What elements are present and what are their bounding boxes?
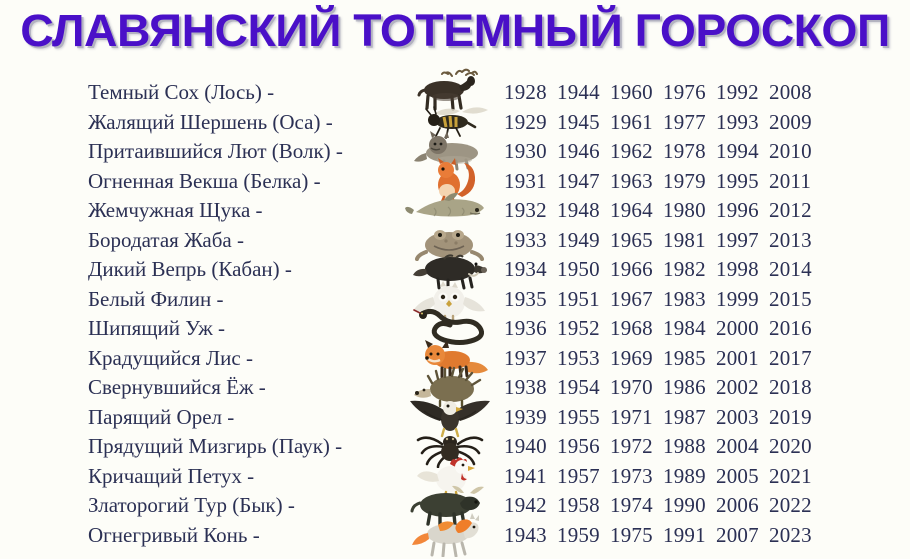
year-value: 1986: [663, 373, 716, 403]
year-value: 1938: [504, 373, 557, 403]
year-value: 1973: [610, 462, 663, 492]
totem-name-label: Златорогий Тур (Бык) -: [88, 491, 295, 521]
year-value: 1959: [557, 521, 610, 551]
year-value: 1999: [716, 285, 769, 315]
year-value: 2023: [769, 521, 822, 551]
year-value: 1968: [610, 314, 663, 344]
year-value: 1971: [610, 403, 663, 433]
totem-name-label: Прядущий Мизгирь (Паук) -: [88, 432, 342, 462]
year-list: 193619521968198420002016: [504, 314, 822, 344]
year-value: 1951: [557, 285, 610, 315]
year-value: 2009: [769, 108, 822, 138]
year-value: 1956: [557, 432, 610, 462]
year-value: 1957: [557, 462, 610, 492]
year-value: 1930: [504, 137, 557, 167]
year-value: 2012: [769, 196, 822, 226]
totem-name-label: Притаившийся Лют (Волк) -: [88, 137, 343, 167]
year-value: 2022: [769, 491, 822, 521]
year-value: 1970: [610, 373, 663, 403]
year-value: 2019: [769, 403, 822, 433]
year-value: 1949: [557, 226, 610, 256]
totem-name-label: Жемчужная Щука -: [88, 196, 263, 226]
year-value: 1962: [610, 137, 663, 167]
year-value: 1935: [504, 285, 557, 315]
year-value: 1977: [663, 108, 716, 138]
year-value: 1929: [504, 108, 557, 138]
year-value: 1984: [663, 314, 716, 344]
year-list: 193319491965198119972013: [504, 226, 822, 256]
totem-name-label: Парящий Орел -: [88, 403, 234, 433]
year-value: 1980: [663, 196, 716, 226]
year-value: 2016: [769, 314, 822, 344]
year-value: 2001: [716, 344, 769, 374]
year-value: 2006: [716, 491, 769, 521]
year-value: 1946: [557, 137, 610, 167]
year-value: 1937: [504, 344, 557, 374]
year-value: 1936: [504, 314, 557, 344]
horoscope-poster: СЛАВЯНСКИЙ ТОТЕМНЫЙ ГОРОСКОП Темный Сох …: [0, 0, 910, 559]
year-value: 1943: [504, 521, 557, 551]
year-value: 1963: [610, 167, 663, 197]
year-value: 1996: [716, 196, 769, 226]
year-value: 1928: [504, 78, 557, 108]
year-value: 2020: [769, 432, 822, 462]
year-value: 2000: [716, 314, 769, 344]
year-value: 1997: [716, 226, 769, 256]
year-value: 2005: [716, 462, 769, 492]
year-value: 1941: [504, 462, 557, 492]
year-value: 1955: [557, 403, 610, 433]
year-value: 2017: [769, 344, 822, 374]
year-value: 1939: [504, 403, 557, 433]
year-value: 1960: [610, 78, 663, 108]
year-value: 1948: [557, 196, 610, 226]
year-list: 193519511967198319992015: [504, 285, 822, 315]
year-value: 1932: [504, 196, 557, 226]
year-value: 1991: [663, 521, 716, 551]
year-value: 2007: [716, 521, 769, 551]
year-list: 193219481964198019962012: [504, 196, 822, 226]
year-value: 1975: [610, 521, 663, 551]
year-value: 1974: [610, 491, 663, 521]
year-value: 1992: [716, 78, 769, 108]
year-value: 1931: [504, 167, 557, 197]
year-value: 1987: [663, 403, 716, 433]
totem-name-label: Дикий Вепрь (Кабан) -: [88, 255, 292, 285]
year-value: 1993: [716, 108, 769, 138]
year-value: 1940: [504, 432, 557, 462]
year-value: 1954: [557, 373, 610, 403]
year-value: 2008: [769, 78, 822, 108]
year-list: 193919551971198720032019: [504, 403, 822, 433]
year-value: 2021: [769, 462, 822, 492]
totem-name-label: Огнегривый Конь -: [88, 521, 260, 551]
year-value: 1988: [663, 432, 716, 462]
year-value: 1982: [663, 255, 716, 285]
year-value: 1989: [663, 462, 716, 492]
year-value: 1979: [663, 167, 716, 197]
year-value: 2014: [769, 255, 822, 285]
page-title: СЛАВЯНСКИЙ ТОТЕМНЫЙ ГОРОСКОП: [0, 6, 910, 58]
year-value: 1934: [504, 255, 557, 285]
totem-name-label: Кричащий Петух -: [88, 462, 254, 492]
year-list: 194119571973198920052021: [504, 462, 822, 492]
year-value: 1990: [663, 491, 716, 521]
year-value: 1966: [610, 255, 663, 285]
year-value: 1947: [557, 167, 610, 197]
totem-name-label: Бородатая Жаба -: [88, 226, 244, 256]
year-value: 1965: [610, 226, 663, 256]
year-list: 193419501966198219982014: [504, 255, 822, 285]
year-value: 1942: [504, 491, 557, 521]
year-list: 193119471963197919952011: [504, 167, 822, 197]
year-list: 193819541970198620022018: [504, 373, 822, 403]
year-value: 1981: [663, 226, 716, 256]
animal-image-column: [404, 70, 500, 550]
year-value: 1972: [610, 432, 663, 462]
totem-name-label: Темный Сох (Лось) -: [88, 78, 274, 108]
year-value: 1969: [610, 344, 663, 374]
year-value: 1998: [716, 255, 769, 285]
year-list: 192819441960197619922008: [504, 78, 822, 108]
year-list: 194319591975199120072023: [504, 521, 822, 551]
year-value: 2004: [716, 432, 769, 462]
year-value: 1950: [557, 255, 610, 285]
year-value: 1967: [610, 285, 663, 315]
year-value: 1961: [610, 108, 663, 138]
year-value: 1976: [663, 78, 716, 108]
year-value: 1964: [610, 196, 663, 226]
year-value: 2018: [769, 373, 822, 403]
year-list: 193719531969198520012017: [504, 344, 822, 374]
totem-name-label: Свернувшийся Ёж -: [88, 373, 266, 403]
year-value: 1944: [557, 78, 610, 108]
year-value: 1945: [557, 108, 610, 138]
totem-name-label: Шипящий Уж -: [88, 314, 225, 344]
year-value: 1994: [716, 137, 769, 167]
year-list: 194019561972198820042020: [504, 432, 822, 462]
year-value: 2003: [716, 403, 769, 433]
year-value: 1983: [663, 285, 716, 315]
year-value: 1933: [504, 226, 557, 256]
totem-name-label: Крадущийся Лис -: [88, 344, 253, 374]
year-value: 2015: [769, 285, 822, 315]
totem-name-label: Огненная Векша (Белка) -: [88, 167, 321, 197]
year-value: 1985: [663, 344, 716, 374]
year-value: 1953: [557, 344, 610, 374]
year-value: 2010: [769, 137, 822, 167]
year-value: 2013: [769, 226, 822, 256]
year-value: 2011: [769, 167, 822, 197]
year-value: 1958: [557, 491, 610, 521]
year-value: 1952: [557, 314, 610, 344]
year-value: 1995: [716, 167, 769, 197]
year-list: 193019461962197819942010: [504, 137, 822, 167]
horse-icon: [404, 511, 494, 557]
year-value: 2002: [716, 373, 769, 403]
year-list: 192919451961197719932009: [504, 108, 822, 138]
year-list: 194219581974199020062022: [504, 491, 822, 521]
year-value: 1978: [663, 137, 716, 167]
totem-name-label: Жалящий Шершень (Оса) -: [88, 108, 333, 138]
totem-name-label: Белый Филин -: [88, 285, 224, 315]
